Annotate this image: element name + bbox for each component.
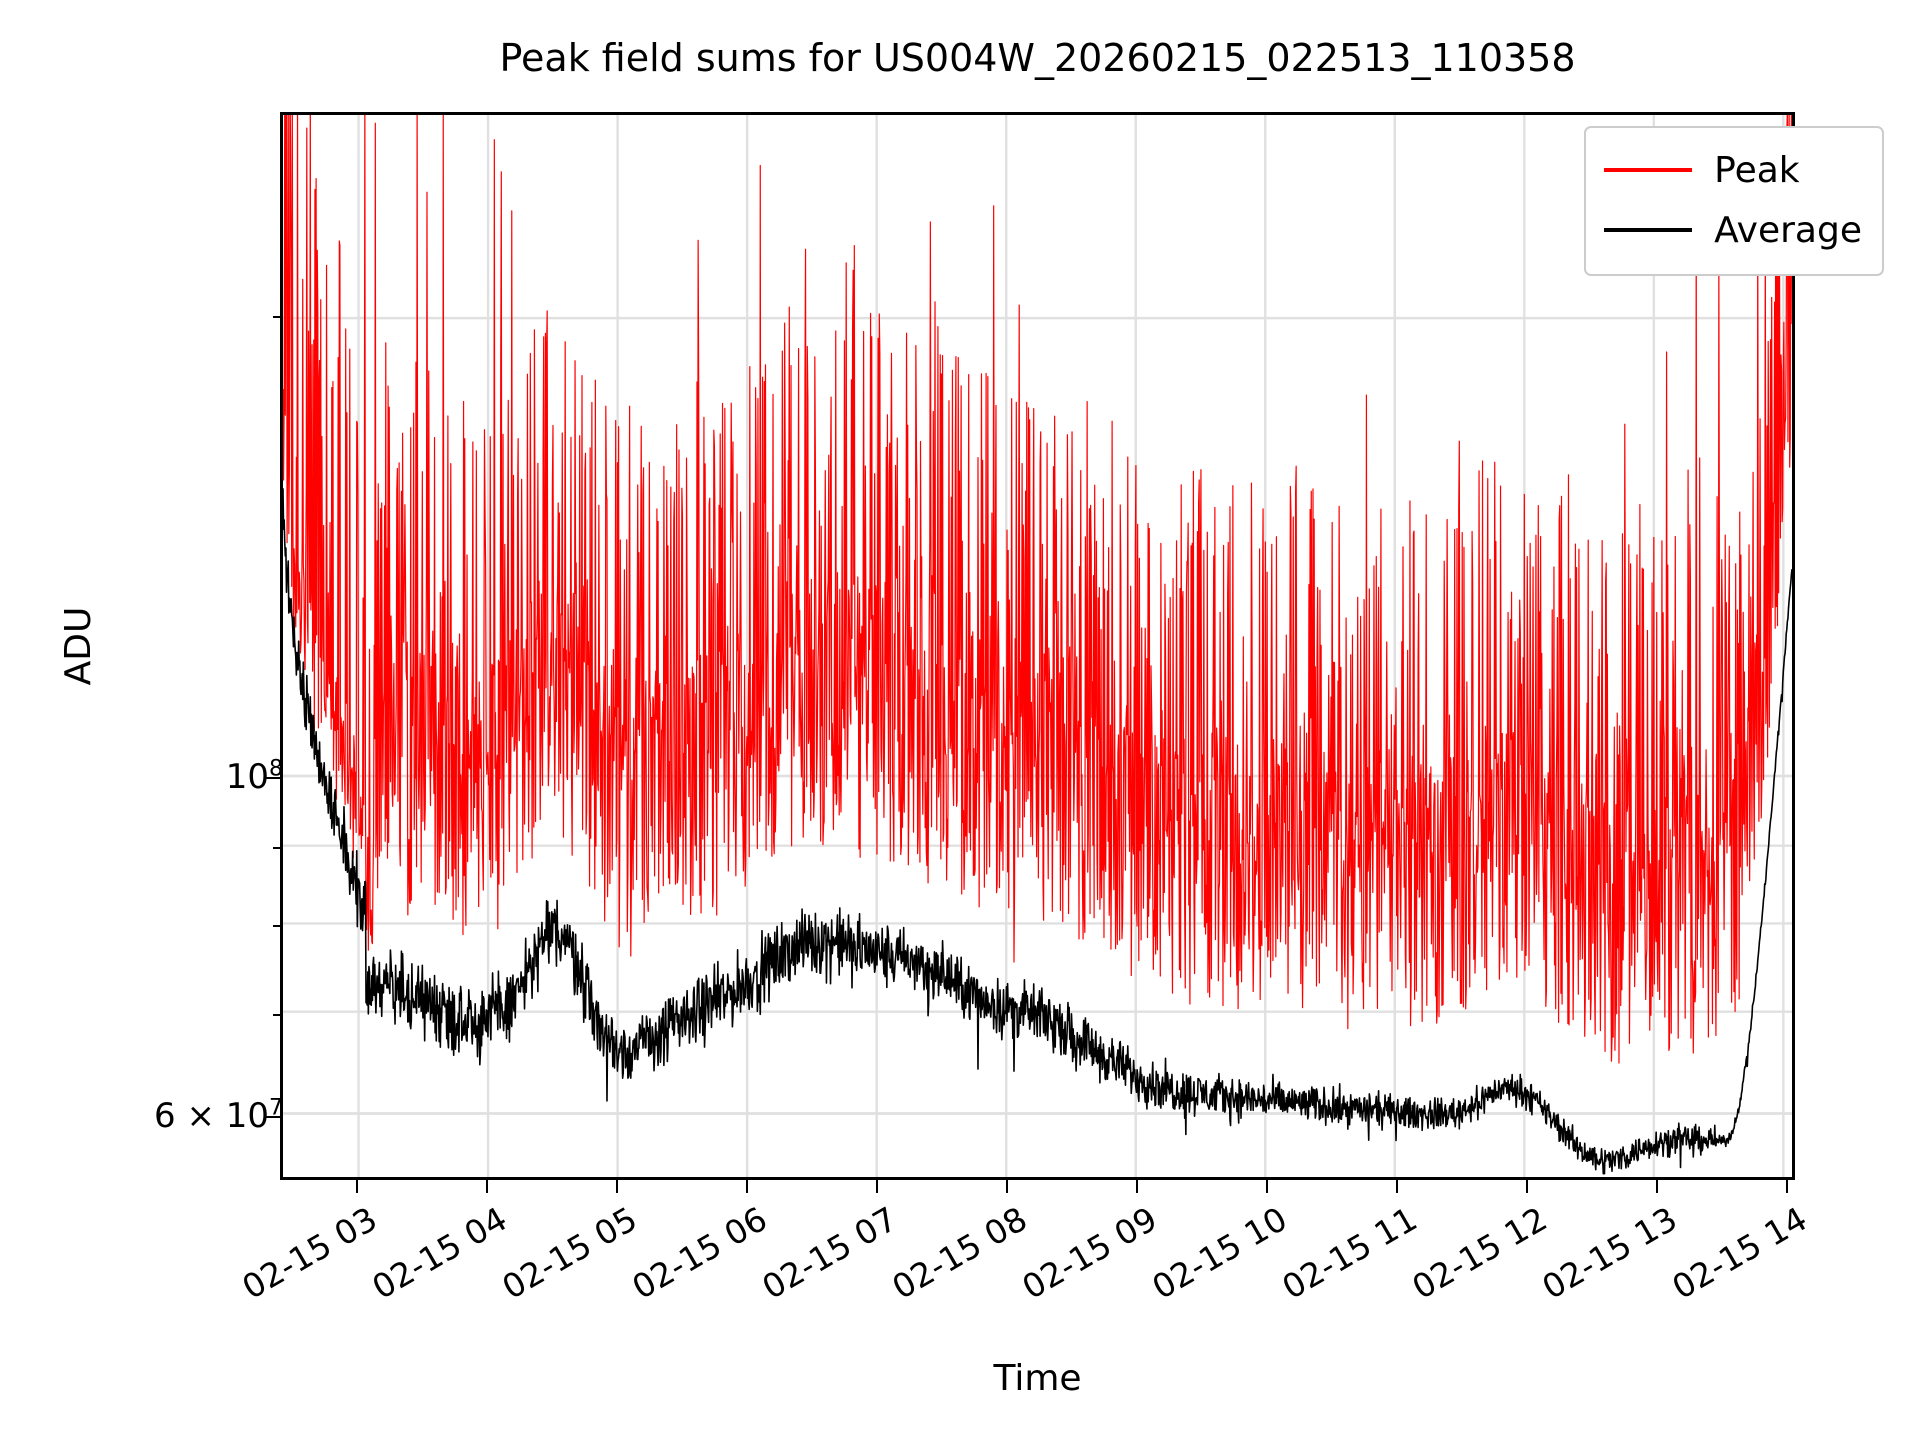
legend-line-peak-icon <box>1604 168 1692 172</box>
plot-area <box>280 112 1795 1180</box>
x-tick-mark <box>1526 1180 1528 1193</box>
y-tick-mark <box>266 777 280 779</box>
x-tick-label: 02-15 10 <box>1066 1199 1293 1353</box>
series-line-peak <box>283 115 1792 1063</box>
x-tick-mark <box>616 1180 618 1193</box>
y-minor-tick-mark <box>273 316 280 318</box>
y-tick-label: 6 × 107 <box>154 1096 283 1136</box>
x-tick-mark <box>746 1180 748 1193</box>
x-tick-label: 02-15 05 <box>416 1199 643 1353</box>
figure: Peak field sums for US004W_20260215_0225… <box>0 0 1920 1440</box>
x-tick-mark <box>1656 1180 1658 1193</box>
legend-line-average-icon <box>1604 228 1692 232</box>
x-tick-mark <box>1786 1180 1788 1193</box>
legend-label-peak: Peak <box>1714 150 1799 191</box>
x-tick-label: 02-15 12 <box>1326 1199 1553 1353</box>
x-tick-label: 02-15 03 <box>156 1199 383 1353</box>
x-axis-label: Time <box>280 1358 1795 1399</box>
y-minor-tick-mark <box>273 847 280 849</box>
x-tick-label: 02-15 04 <box>286 1199 513 1353</box>
x-tick-mark <box>1266 1180 1268 1193</box>
x-tick-label: 02-15 08 <box>806 1199 1033 1353</box>
x-tick-label: 02-15 06 <box>546 1199 773 1353</box>
legend: Peak Average <box>1584 126 1884 276</box>
x-tick-label: 02-15 13 <box>1456 1199 1683 1353</box>
chart-title: Peak field sums for US004W_20260215_0225… <box>280 36 1795 80</box>
legend-label-average: Average <box>1714 210 1862 251</box>
y-tick-mark <box>266 1116 280 1118</box>
x-tick-mark <box>1006 1180 1008 1193</box>
x-tick-mark <box>876 1180 878 1193</box>
x-tick-mark <box>1136 1180 1138 1193</box>
x-tick-label: 02-15 07 <box>676 1199 903 1353</box>
x-tick-label: 02-15 09 <box>936 1199 1163 1353</box>
legend-item-peak[interactable]: Peak <box>1604 140 1862 200</box>
x-tick-mark <box>356 1180 358 1193</box>
x-tick-label: 02-15 11 <box>1196 1199 1423 1353</box>
y-minor-tick-mark <box>273 1014 280 1016</box>
y-minor-tick-mark <box>273 925 280 927</box>
y-axis-label: ADU <box>48 112 108 1180</box>
data-layer <box>283 115 1792 1177</box>
x-tick-mark <box>486 1180 488 1193</box>
legend-item-average[interactable]: Average <box>1604 200 1862 260</box>
x-tick-label: 02-15 14 <box>1586 1199 1813 1353</box>
x-tick-mark <box>1396 1180 1398 1193</box>
